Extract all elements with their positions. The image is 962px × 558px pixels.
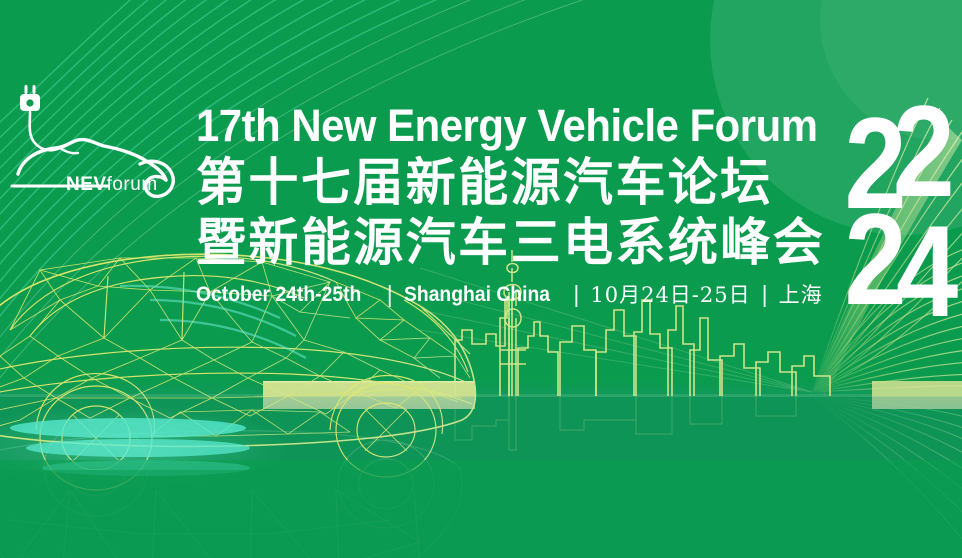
charging-plug-icon — [20, 85, 40, 111]
page-title-chinese-line1: 第十七届新能源汽车论坛 — [196, 155, 843, 213]
skyline-reflection — [455, 396, 796, 450]
logo-wordmark-bold: NEV — [66, 174, 107, 195]
car-reflection — [0, 420, 462, 558]
platform-bar-right — [872, 381, 962, 409]
event-poster: NEVforum 17th New Energy Vehicle Forum 第… — [0, 0, 962, 558]
meta-separator-2: | — [562, 283, 590, 305]
light-trails — [0, 404, 290, 492]
event-location-chinese: 上海 — [779, 284, 823, 306]
title-block: 17th New Energy Vehicle Forum 第十七届新能源汽车论… — [196, 102, 856, 306]
meta-separator-1: | — [376, 283, 404, 305]
page-title-chinese-line2: 暨新能源汽车三电系统峰会 — [196, 215, 843, 273]
event-meta: October 24th-25th | Shanghai China | 10月… — [196, 284, 856, 306]
horizon-band — [0, 394, 962, 460]
logo-wordmark-light: forum — [107, 174, 158, 195]
event-location-english: Shanghai China — [404, 284, 550, 306]
event-date-english: October 24th-25th — [196, 284, 361, 306]
city-skyline — [455, 300, 830, 396]
year-digit-4: 4 — [896, 198, 958, 320]
year-2024: 2 2 2 4 — [836, 100, 962, 320]
logo-wordmark: NEVforum — [66, 174, 158, 195]
platform-bar — [263, 381, 475, 409]
nevforum-logo[interactable]: NEVforum — [8, 78, 186, 206]
page-title-english: 17th New Energy Vehicle Forum — [196, 102, 810, 149]
event-date-chinese: 10月24日-25日 — [590, 284, 750, 306]
meta-separator-3: | — [751, 283, 779, 305]
fan-lines-right-reflected — [812, 396, 962, 558]
